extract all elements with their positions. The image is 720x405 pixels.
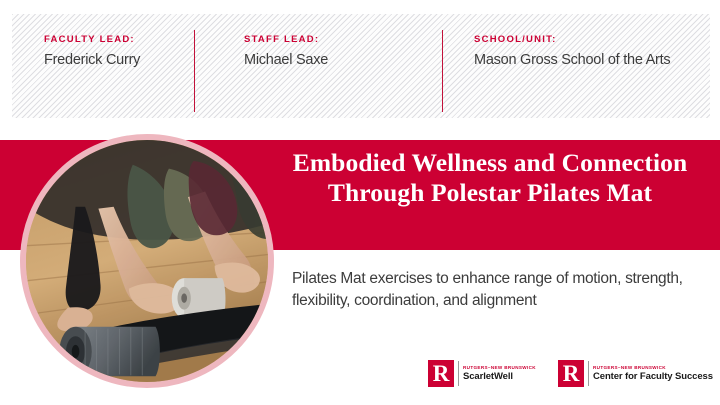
- staff-lead-label: STAFF LEAD:: [244, 33, 439, 46]
- pilates-photo-illustration: [26, 140, 268, 382]
- faculty-lead-label: FACULTY LEAD:: [44, 33, 194, 46]
- rutgers-r-icon: R: [428, 360, 454, 387]
- logo-scarletwell-eyebrow: RUTGERS–NEW BRUNSWICK: [463, 364, 536, 371]
- logo-cfs-eyebrow: RUTGERS–NEW BRUNSWICK: [593, 364, 713, 371]
- pilates-photo: [20, 134, 274, 388]
- logo-scarletwell-name: ScarletWell: [463, 371, 536, 383]
- page-title: Embodied Wellness and Connection Through…: [272, 148, 708, 208]
- school-unit-value: Mason Gross School of the Arts: [474, 51, 679, 70]
- logo-scarletwell: R RUTGERS–NEW BRUNSWICK ScarletWell: [428, 358, 536, 388]
- logo-divider-2: [588, 361, 589, 386]
- metadata-staff-lead: STAFF LEAD: Michael Saxe: [244, 33, 439, 70]
- faculty-lead-value: Frederick Curry: [44, 51, 194, 70]
- slide-canvas: FACULTY LEAD: Frederick Curry STAFF LEAD…: [0, 0, 720, 405]
- column-divider-1: [194, 30, 195, 112]
- logo-center-for-faculty-success: R RUTGERS–NEW BRUNSWICK Center for Facul…: [558, 358, 713, 388]
- logo-scarletwell-text: RUTGERS–NEW BRUNSWICK ScarletWell: [463, 364, 536, 383]
- logo-cfs-text: RUTGERS–NEW BRUNSWICK Center for Faculty…: [593, 364, 713, 383]
- logo-row: R RUTGERS–NEW BRUNSWICK ScarletWell R RU…: [428, 358, 712, 392]
- metadata-row: FACULTY LEAD: Frederick Curry STAFF LEAD…: [12, 14, 710, 118]
- header-panel: FACULTY LEAD: Frederick Curry STAFF LEAD…: [12, 14, 710, 118]
- rutgers-r-icon-2: R: [558, 360, 584, 387]
- school-unit-label: SCHOOL/UNIT:: [474, 33, 679, 46]
- staff-lead-value: Michael Saxe: [244, 51, 439, 70]
- column-divider-2: [442, 30, 443, 112]
- metadata-faculty-lead: FACULTY LEAD: Frederick Curry: [44, 33, 194, 70]
- logo-cfs-name: Center for Faculty Success: [593, 371, 713, 383]
- logo-divider-1: [458, 361, 459, 386]
- subtitle-description: Pilates Mat exercises to enhance range o…: [292, 268, 696, 312]
- metadata-school-unit: SCHOOL/UNIT: Mason Gross School of the A…: [474, 33, 679, 70]
